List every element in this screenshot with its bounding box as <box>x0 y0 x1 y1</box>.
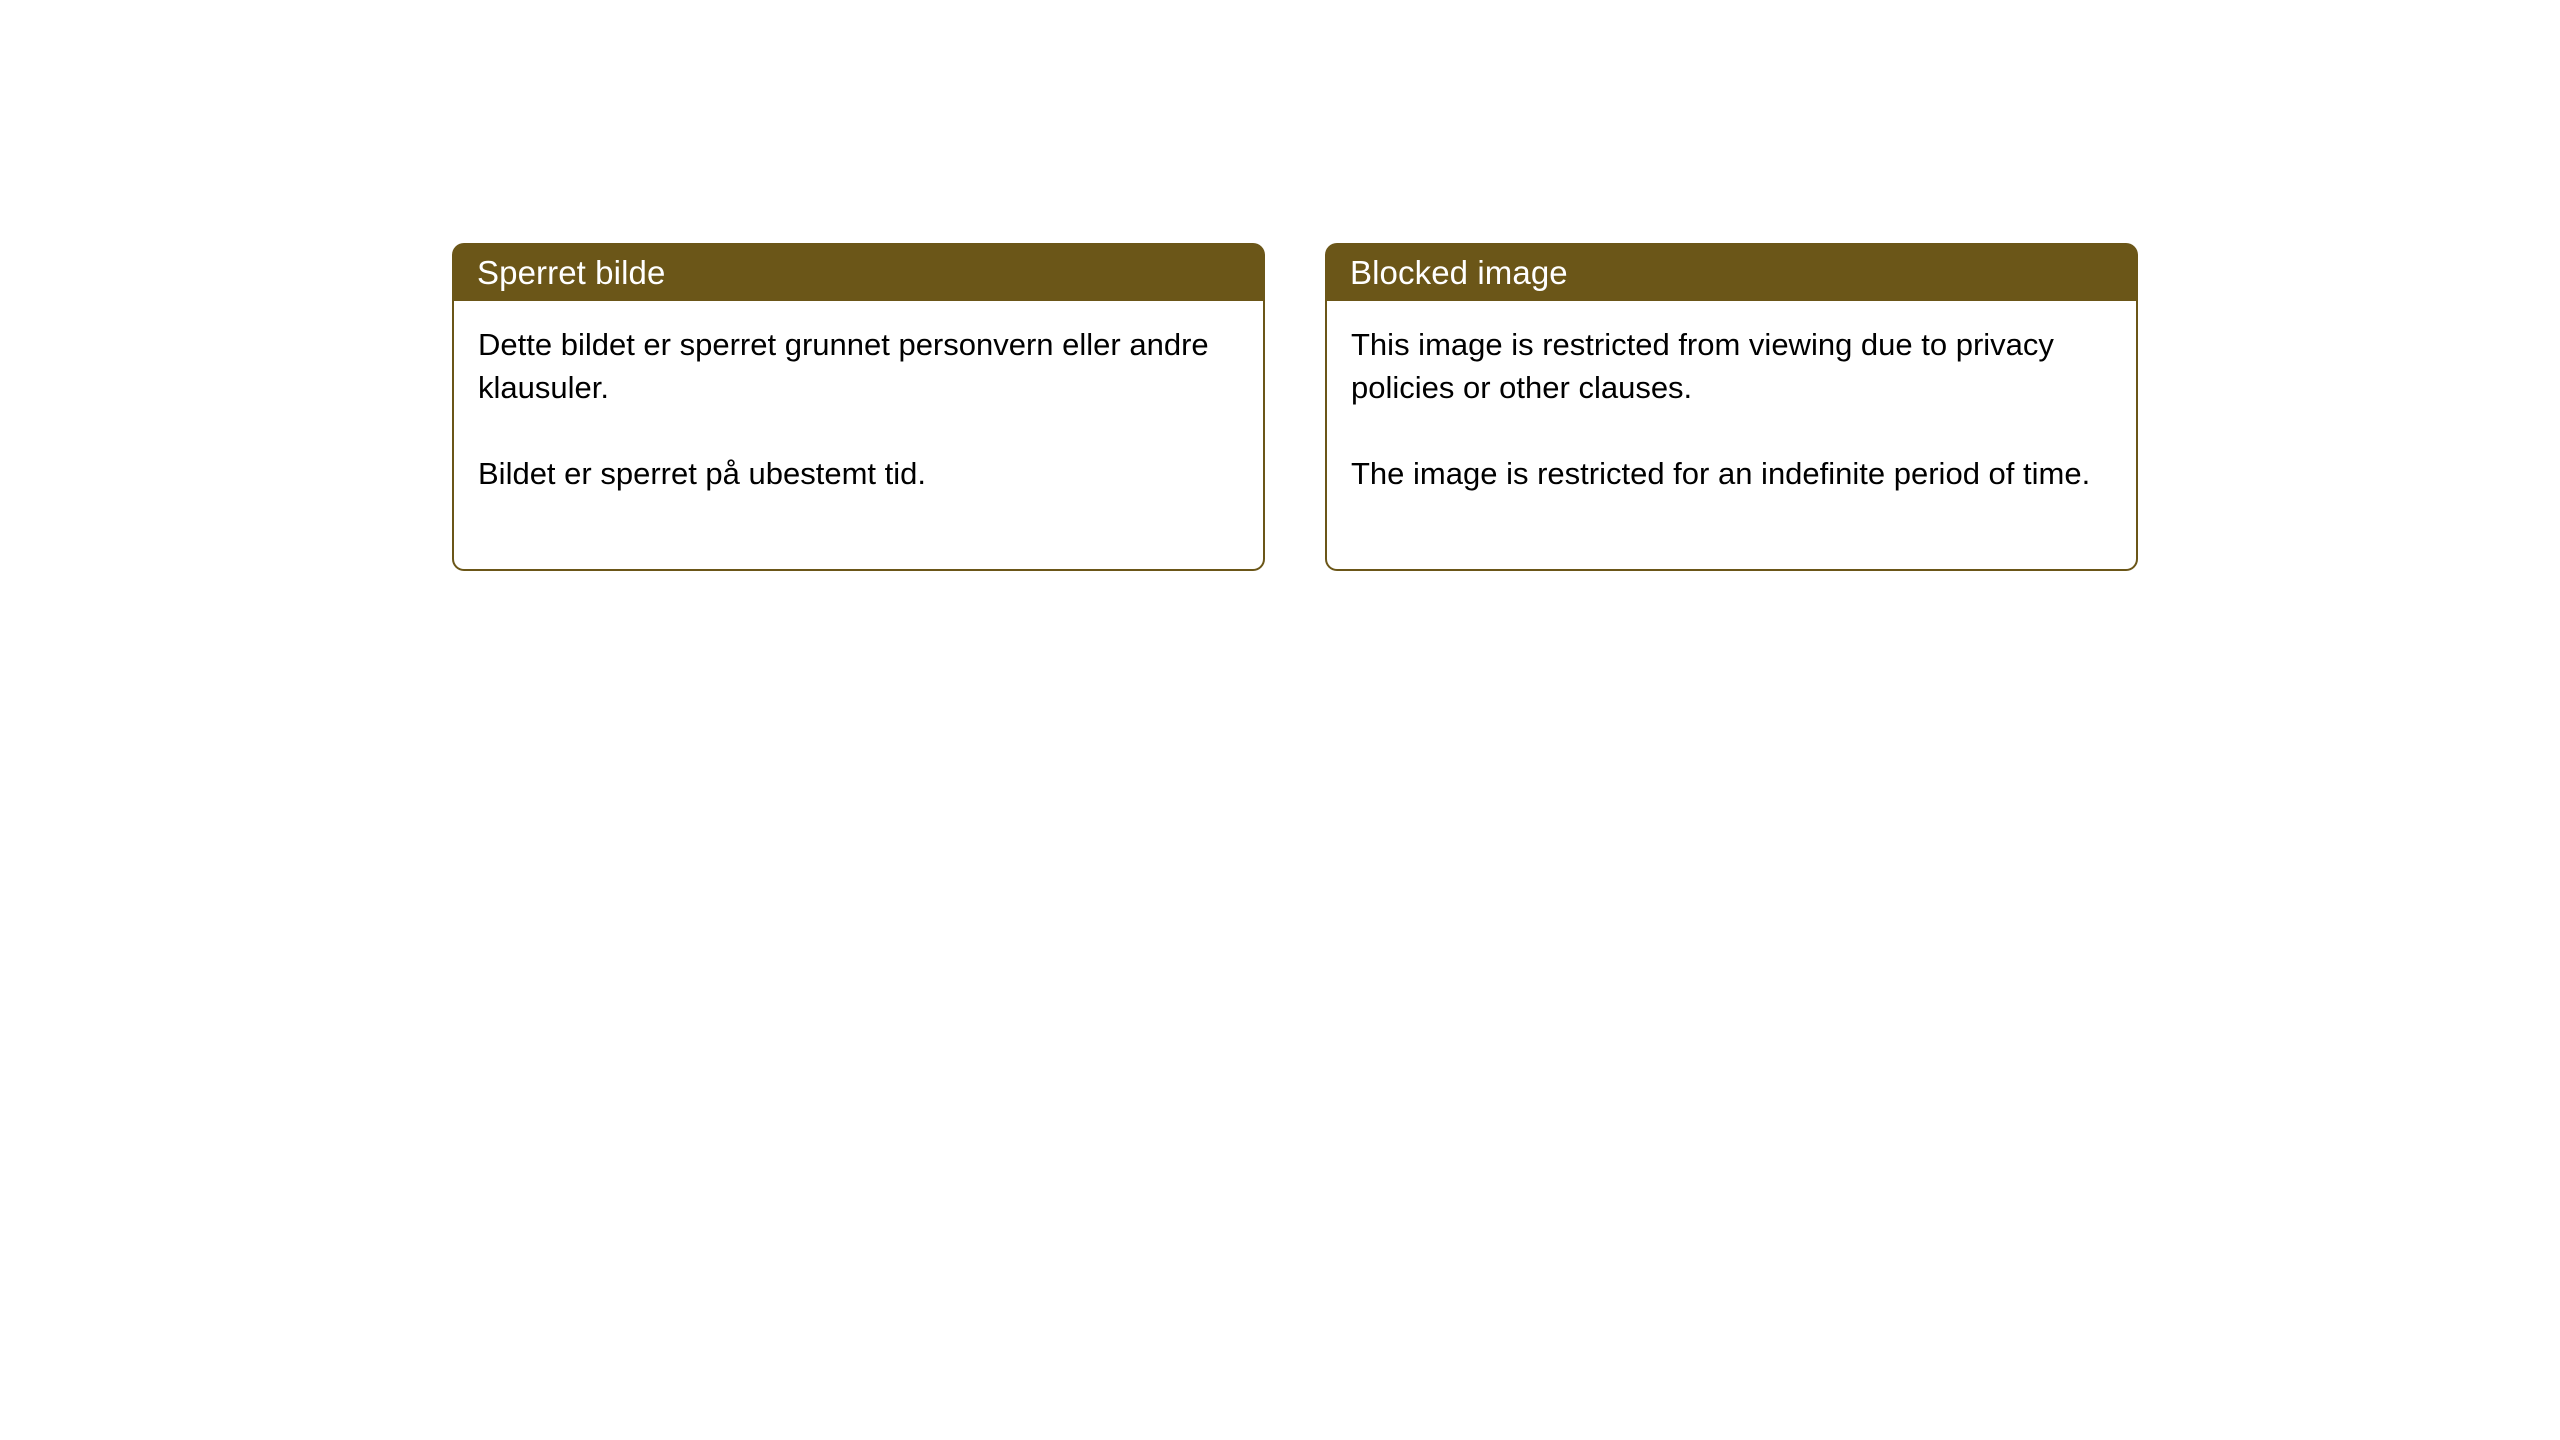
blocked-image-card-english: Blocked image This image is restricted f… <box>1325 243 2138 571</box>
blocked-image-notice-container: Sperret bilde Dette bildet er sperret gr… <box>452 243 2138 571</box>
card-header-norwegian: Sperret bilde <box>452 243 1265 301</box>
card-body-norwegian: Dette bildet er sperret grunnet personve… <box>452 301 1265 571</box>
card-paragraph-duration-english: The image is restricted for an indefinit… <box>1351 452 2112 495</box>
card-header-english: Blocked image <box>1325 243 2138 301</box>
card-paragraph-reason-norwegian: Dette bildet er sperret grunnet personve… <box>478 323 1239 409</box>
card-paragraph-reason-english: This image is restricted from viewing du… <box>1351 323 2112 409</box>
blocked-image-card-norwegian: Sperret bilde Dette bildet er sperret gr… <box>452 243 1265 571</box>
card-title-norwegian: Sperret bilde <box>477 252 1265 294</box>
card-body-english: This image is restricted from viewing du… <box>1325 301 2138 571</box>
card-title-english: Blocked image <box>1350 252 2138 294</box>
card-paragraph-duration-norwegian: Bildet er sperret på ubestemt tid. <box>478 452 1239 495</box>
